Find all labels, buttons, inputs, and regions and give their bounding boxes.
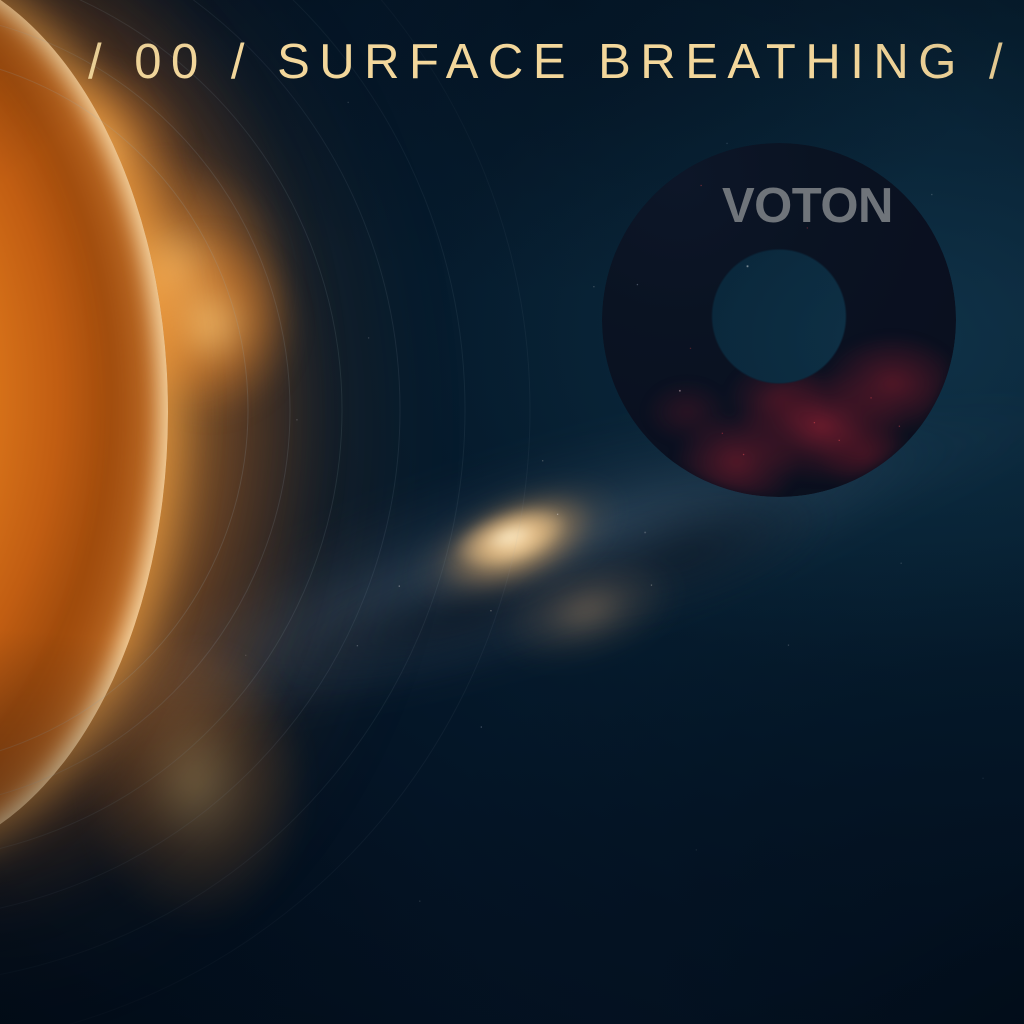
page-title: / 00 / SURFACE BREATHING / [88,38,1012,87]
background-corner-shading [0,0,1024,1024]
scene-canvas: VOTON / 00 / SURFACE BREATHING / [0,0,1024,1024]
